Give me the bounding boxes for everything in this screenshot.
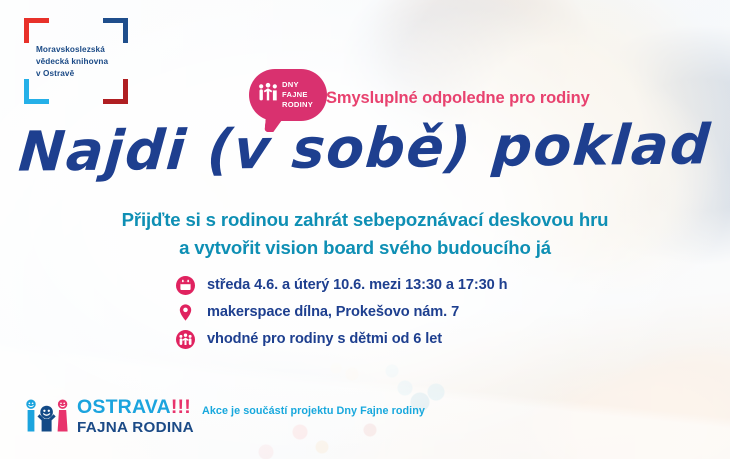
- detail-row-location: makerspace dílna, Prokešovo nám. 7: [176, 300, 507, 324]
- library-logo-line-2: vědecká knihovna: [36, 56, 122, 68]
- library-logo-line-1: Moravskoslezská: [36, 44, 122, 56]
- bracket-bottom-right-icon: [103, 79, 128, 104]
- library-logo: Moravskoslezská vědecká knihovna v Ostra…: [24, 18, 128, 104]
- bracket-bottom-left-icon: [24, 79, 49, 104]
- detail-text-date: středa 4.6. a úterý 10.6. mezi 13:30 a 1…: [207, 277, 507, 293]
- ostrava-logo-title-word: OSTRAVA: [77, 396, 171, 418]
- bracket-top-right-icon: [103, 18, 128, 43]
- tagline: Smysluplné odpoledne pro rodiny: [326, 89, 590, 108]
- ostrava-fajna-rodina-logo: OSTRAVA!!! FAJNA RODINA: [24, 398, 194, 435]
- detail-text-audience: vhodné pro rodiny s dětmi od 6 let: [207, 331, 442, 347]
- detail-text-location: makerspace dílna, Prokešovo nám. 7: [207, 304, 459, 320]
- family-group-icon: [258, 82, 278, 109]
- event-poster: Moravskoslezská vědecká knihovna v Ostra…: [0, 0, 730, 459]
- subtitle-line-2: a vytvořit vision board svého budoucího …: [0, 234, 730, 262]
- event-details-list: středa 4.6. a úterý 10.6. mezi 13:30 a 1…: [176, 273, 507, 351]
- map-pin-icon: [176, 303, 195, 322]
- footer-note: Akce je součástí projektu Dny Fajne rodi…: [202, 405, 425, 417]
- ostrava-logo-text: OSTRAVA!!! FAJNA RODINA: [77, 398, 194, 435]
- library-logo-line-3: v Ostravě: [36, 68, 122, 80]
- badge-line-2: FAJNE: [282, 90, 313, 100]
- ostrava-logo-title: OSTRAVA!!!: [77, 398, 194, 418]
- calendar-icon: [176, 276, 195, 295]
- subtitle: Přijďte si s rodinou zahrát sebepoznávac…: [0, 206, 730, 263]
- badge-line-1: DNY: [282, 80, 313, 90]
- family-icon: [176, 330, 195, 349]
- detail-row-date: středa 4.6. a úterý 10.6. mezi 13:30 a 1…: [176, 273, 507, 297]
- badge-line-3: RODINY: [282, 100, 313, 110]
- dny-fajne-rodiny-badge-text: DNY FAJNE RODINY: [282, 80, 313, 110]
- bracket-top-left-icon: [24, 18, 49, 43]
- three-family-figures-icon: [24, 398, 70, 434]
- detail-row-audience: vhodné pro rodiny s dětmi od 6 let: [176, 327, 507, 351]
- page-title: Najdi (v sobě) poklad: [0, 112, 730, 184]
- dny-fajne-rodiny-badge: DNY FAJNE RODINY: [249, 69, 327, 121]
- library-logo-text: Moravskoslezská vědecká knihovna v Ostra…: [36, 44, 122, 80]
- subtitle-line-1: Přijďte si s rodinou zahrát sebepoznávac…: [0, 206, 730, 234]
- ostrava-logo-subtitle: FAJNA RODINA: [77, 420, 194, 435]
- ostrava-logo-exclaim: !!!: [171, 396, 191, 418]
